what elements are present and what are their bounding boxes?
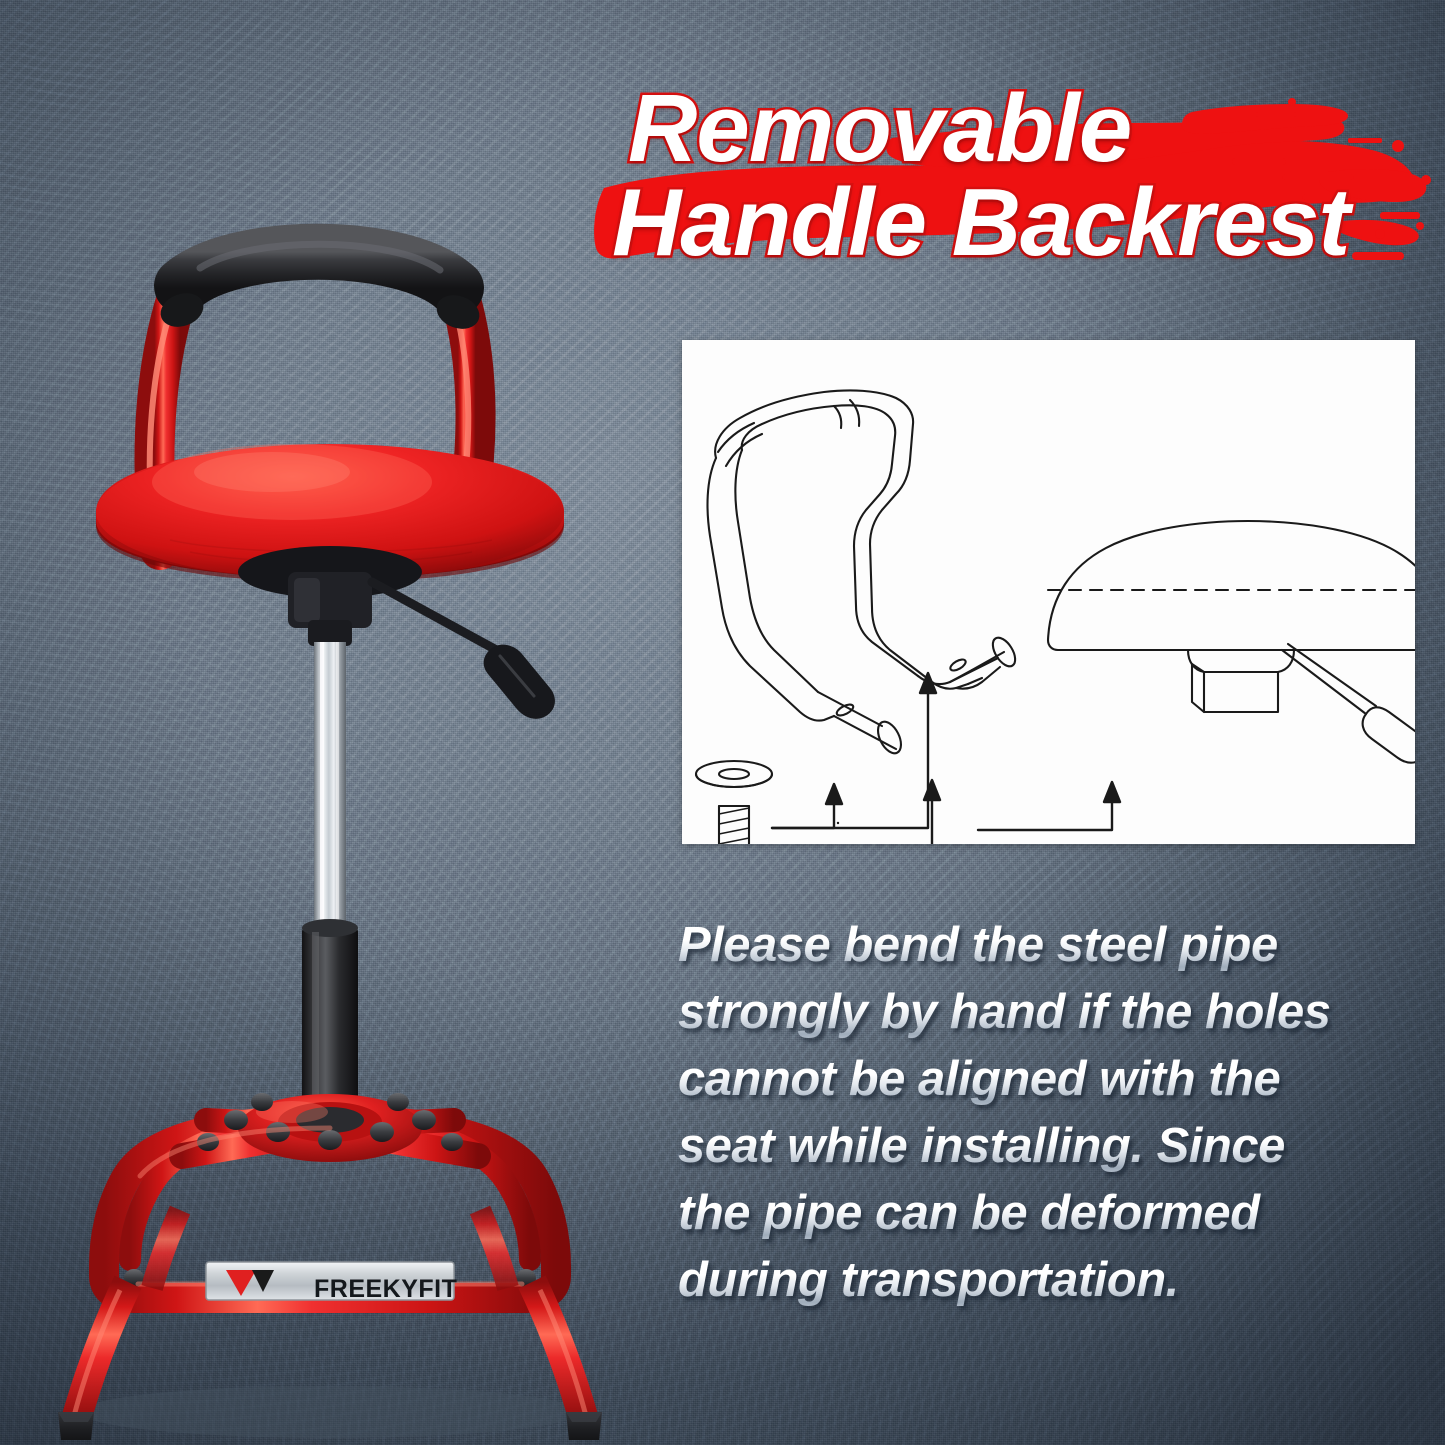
seat-mechanism (238, 546, 422, 628)
diagram-screw-upper (704, 806, 764, 844)
headline-block: Removable Handle Backrest (592, 76, 1445, 281)
diagram-arrow-lower-tube (824, 780, 940, 844)
instruction-line-1: Please bend the steel pipe (678, 912, 1438, 979)
brand-plate-label: FREEKYFIT (314, 1275, 457, 1304)
assembly-diagram (682, 340, 1415, 844)
diagram-seat-mechanism (1188, 650, 1294, 712)
diagram-handle-tube (708, 390, 1020, 757)
diagram-adjust-lever (1282, 644, 1415, 763)
gas-cylinder (302, 620, 358, 1116)
diagram-arrow-tube-hole-lower (772, 784, 842, 828)
instruction-paragraph: Please bend the steel pipe strongly by h… (678, 912, 1438, 1314)
instruction-line-5: the pipe can be deformed (678, 1180, 1438, 1247)
product-marketing-image: Removable Handle Backrest (0, 0, 1445, 1445)
headline-line-2: Handle Backrest (612, 168, 1349, 278)
instruction-line-4: seat while installing. Since (678, 1113, 1438, 1180)
diagram-arrow-upper-tube (772, 673, 936, 828)
stool-illustration (30, 120, 670, 1440)
height-adjust-lever (372, 582, 555, 719)
assembly-diagram-panel (682, 340, 1415, 844)
product-photo: FREEKYFIT (30, 120, 670, 1440)
instruction-line-3: cannot be aligned with the (678, 1046, 1438, 1113)
instruction-line-6: during transportation. (678, 1247, 1438, 1314)
diagram-seat-cushion (1048, 521, 1415, 650)
diagram-washer-upper (696, 761, 772, 787)
diagram-arrow-seat (978, 782, 1120, 830)
instruction-line-2: strongly by hand if the holes (678, 979, 1438, 1046)
